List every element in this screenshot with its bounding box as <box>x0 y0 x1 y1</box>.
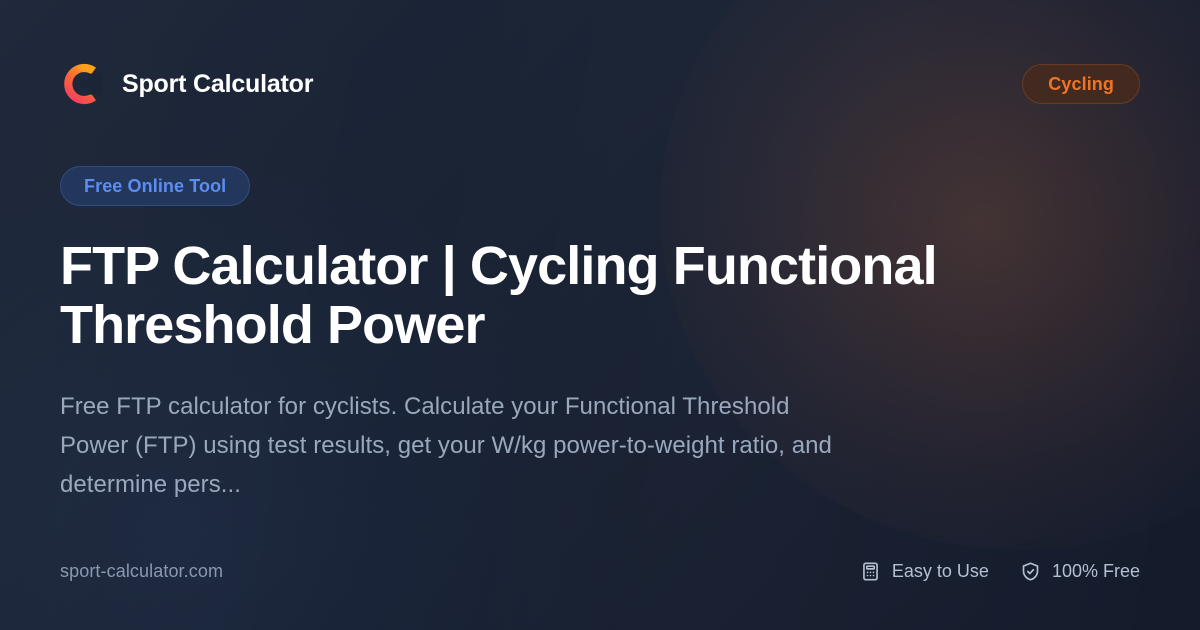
sport-badge[interactable]: Cycling <box>1022 64 1140 104</box>
page-description: Free FTP calculator for cyclists. Calcul… <box>60 388 850 505</box>
c-mark-logo-icon <box>60 62 104 106</box>
feature-label: Easy to Use <box>892 561 989 582</box>
site-url[interactable]: sport-calculator.com <box>60 561 223 582</box>
shield-check-icon <box>1020 561 1041 582</box>
feature-100-percent-free: 100% Free <box>1020 561 1140 582</box>
feature-easy-to-use: Easy to Use <box>860 561 989 582</box>
og-share-card: Sport Calculator Cycling Free Online Too… <box>0 0 1200 630</box>
feature-list: Easy to Use 100% Free <box>860 561 1140 582</box>
page-title: FTP Calculator | Cycling Functional Thre… <box>60 237 990 354</box>
brand-name: Sport Calculator <box>122 70 313 99</box>
card-header: Sport Calculator Cycling <box>60 56 1140 112</box>
card-footer: sport-calculator.com Easy to Use <box>60 556 1140 586</box>
calculator-icon <box>860 561 881 582</box>
brand-lockup[interactable]: Sport Calculator <box>60 62 313 106</box>
free-online-tool-badge: Free Online Tool <box>60 166 250 206</box>
card-content: Sport Calculator Cycling Free Online Too… <box>0 0 1200 630</box>
hero-section: Free Online Tool FTP Calculator | Cyclin… <box>60 112 1140 556</box>
feature-label: 100% Free <box>1052 561 1140 582</box>
